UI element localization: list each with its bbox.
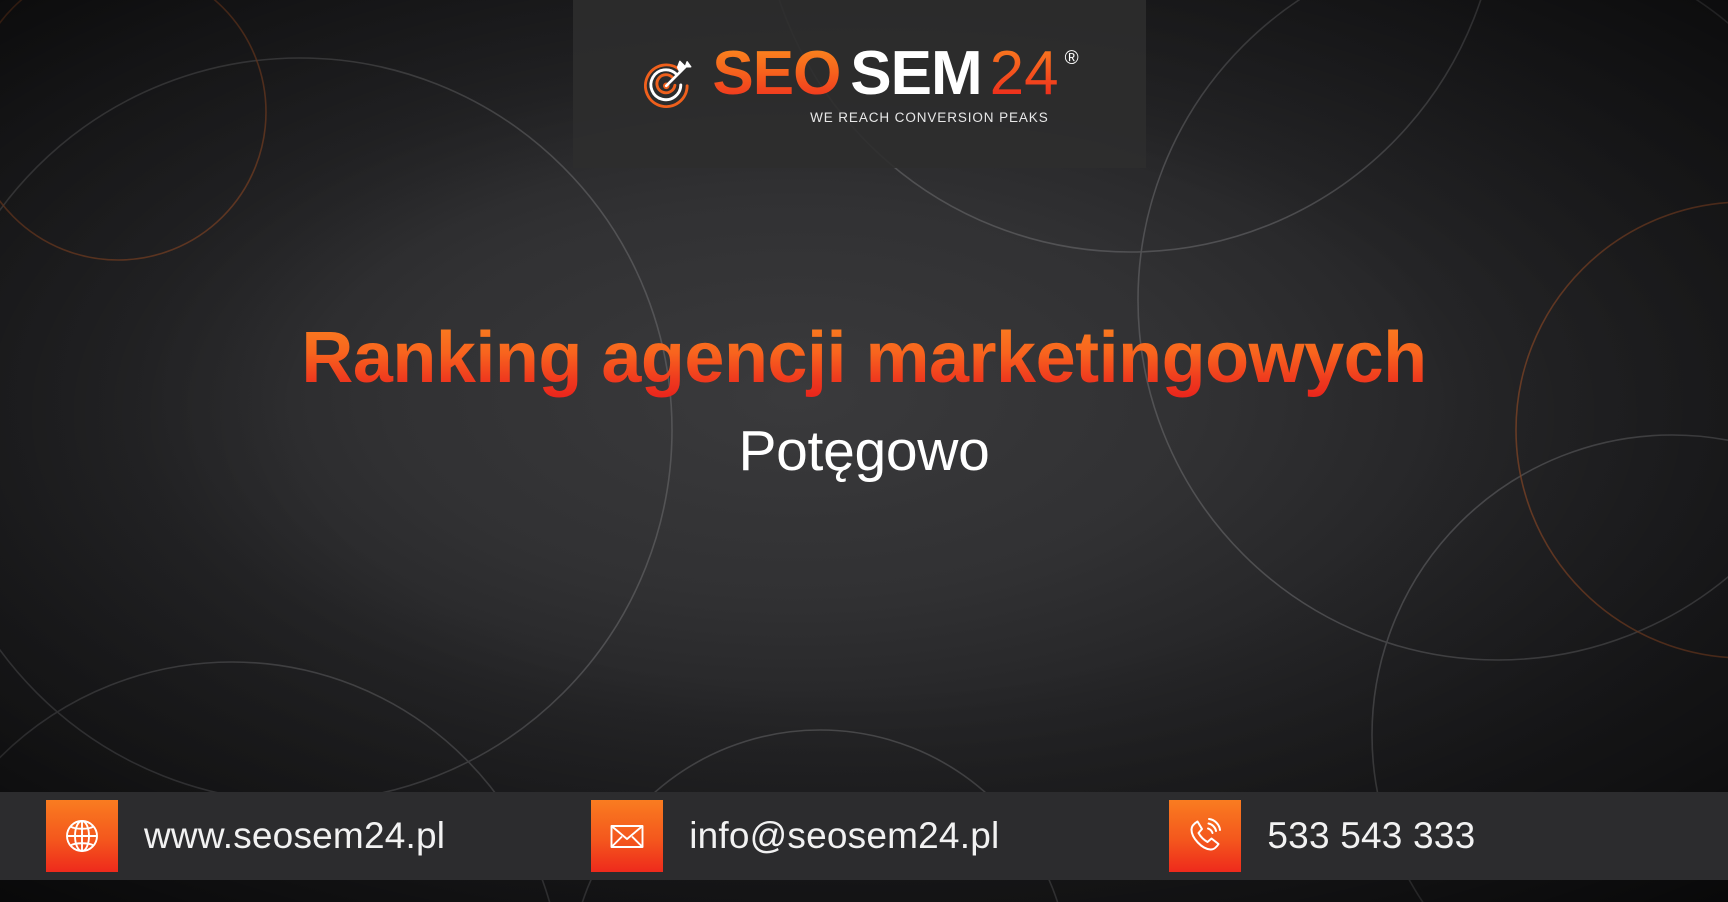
page-title: Ranking agencji marketingowych — [0, 320, 1728, 398]
slide-canvas: SEO SEM 24 ® WE REACH CONVERSION PEAKS R… — [0, 0, 1728, 902]
brand-seo-text: SEO — [712, 43, 840, 105]
brand-24-text: 24 — [990, 43, 1059, 105]
contact-phone[interactable]: 533 543 333 — [1169, 800, 1475, 872]
envelope-icon — [591, 800, 663, 872]
brand-wordmark-line: SEO SEM 24 ® — [712, 43, 1078, 105]
brand-wordmark: SEO SEM 24 ® WE REACH CONVERSION PEAKS — [712, 43, 1078, 125]
brand-sem-text: SEM — [850, 43, 981, 105]
hero-text-block: Ranking agencji marketingowych Potęgowo — [0, 320, 1728, 482]
phone-icon — [1169, 800, 1241, 872]
contact-email[interactable]: info@seosem24.pl — [591, 800, 999, 872]
brand-logo: SEO SEM 24 ® WE REACH CONVERSION PEAKS — [573, 0, 1146, 168]
footer-contacts: www.seosem24.pl info@seosem24.pl — [0, 792, 1728, 880]
globe-icon — [46, 800, 118, 872]
contact-website[interactable]: www.seosem24.pl — [46, 800, 445, 872]
brand-tagline: WE REACH CONVERSION PEAKS — [712, 110, 1078, 125]
website-label: www.seosem24.pl — [144, 815, 445, 857]
registered-trademark-icon: ® — [1065, 49, 1079, 68]
page-subtitle: Potęgowo — [0, 420, 1728, 483]
brand-logo-row: SEO SEM 24 ® WE REACH CONVERSION PEAKS — [640, 43, 1078, 125]
email-label: info@seosem24.pl — [689, 815, 999, 857]
target-dart-icon — [640, 55, 698, 113]
phone-label: 533 543 333 — [1267, 815, 1475, 857]
